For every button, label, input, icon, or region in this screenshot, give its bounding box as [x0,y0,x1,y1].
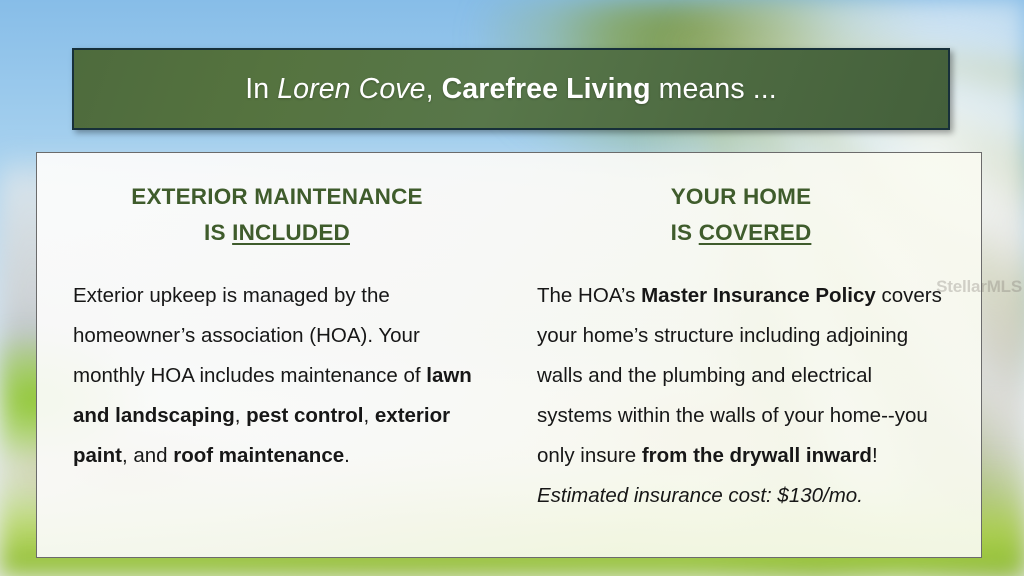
column-exterior-maintenance: EXTERIOR MAINTENANCE IS INCLUDED Exterio… [73,179,511,539]
text-segment-regular: Exterior upkeep is managed by the homeow… [73,284,426,387]
text-segment-regular: ! [872,444,878,467]
text-segment-italic: Estimated insurance cost: $130/mo. [537,484,863,507]
text-segment-bold: pest control [246,404,363,427]
text-segment-regular: The HOA’s [537,284,641,307]
text-segment-regular: , and [122,444,173,467]
heading-line-2-prefix: IS [671,220,699,245]
text-segment-regular: covers your home’s structure including a… [537,284,942,467]
column-heading-your-home-covered: YOUR HOME IS COVERED [537,179,945,252]
text-segment-regular: , [363,404,374,427]
watermark-stellar-mls: StellarMLS [936,277,1022,297]
text-segment-bold: Master Insurance Policy [641,284,876,307]
column-body-your-home-covered: The HOA’s Master Insurance Policy covers… [537,276,945,516]
heading-line-1: YOUR HOME [537,179,945,215]
column-heading-exterior-maintenance: EXTERIOR MAINTENANCE IS INCLUDED [73,179,481,252]
title-community-name: Loren Cove [277,73,425,105]
heading-line-2: IS INCLUDED [73,215,481,251]
text-segment-regular: . [344,444,350,467]
column-your-home-covered: YOUR HOME IS COVERED The HOA’s Master In… [511,179,945,539]
title-text: In Loren Cove, Carefree Living means ... [245,73,777,106]
column-body-exterior-maintenance: Exterior upkeep is managed by the homeow… [73,276,481,476]
slide-canvas: In Loren Cove, Carefree Living means ...… [0,0,1024,576]
title-emphasis: Carefree Living [442,73,651,105]
title-middle: , [426,73,442,105]
heading-line-2: IS COVERED [537,215,945,251]
text-segment-bold: from the drywall inward [642,444,872,467]
title-prefix: In [245,73,277,105]
heading-line-2-underlined: INCLUDED [232,220,350,245]
title-suffix: means ... [651,73,777,105]
text-segment-regular: , [235,404,246,427]
content-card: EXTERIOR MAINTENANCE IS INCLUDED Exterio… [36,152,982,558]
text-segment-bold: roof maintenance [173,444,344,467]
heading-line-1: EXTERIOR MAINTENANCE [73,179,481,215]
heading-line-2-prefix: IS [204,220,232,245]
title-banner: In Loren Cove, Carefree Living means ... [72,48,950,130]
heading-line-2-underlined: COVERED [699,220,812,245]
